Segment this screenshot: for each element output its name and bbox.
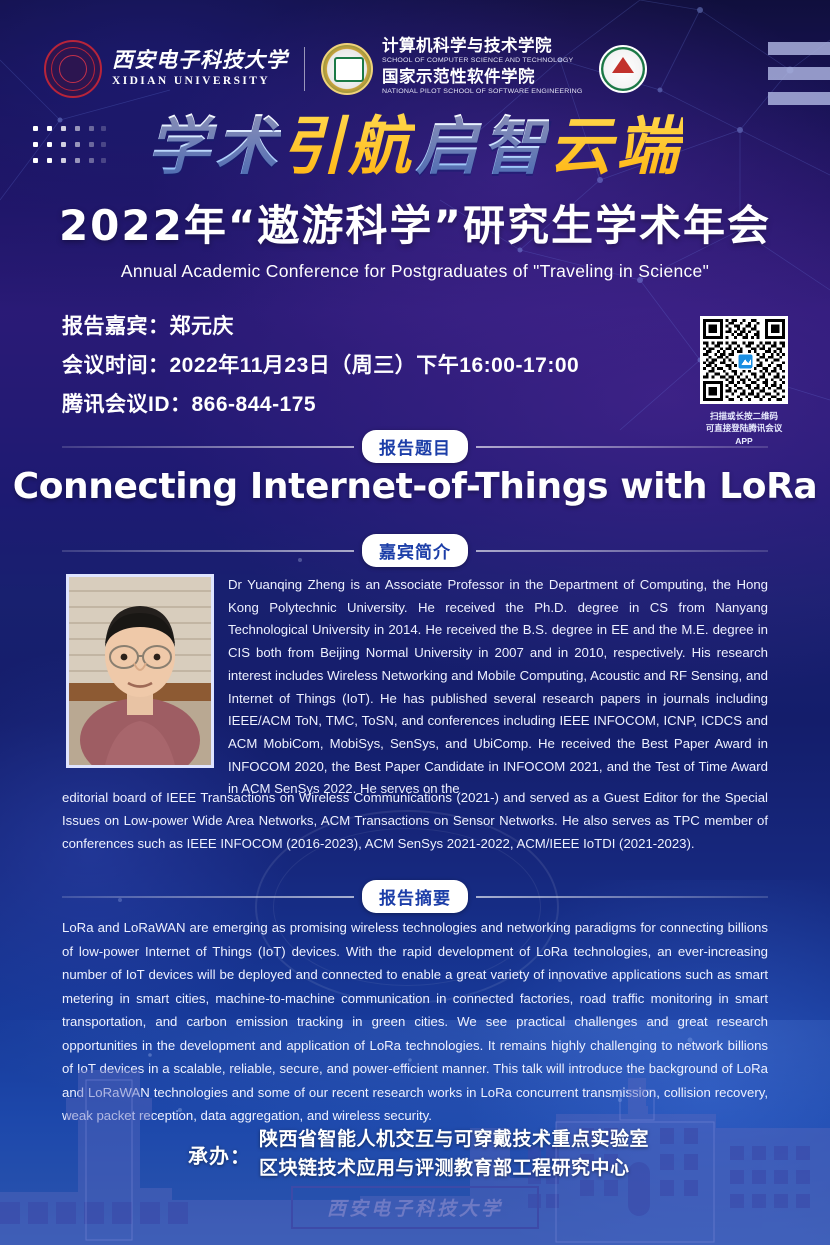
speaker-photo	[66, 574, 214, 768]
qr-caption-line1: 扫描或长按二维码	[700, 410, 788, 422]
meeting-info-block: 报告嘉宾：郑元庆 会议时间：2022年11月23日（周三）下午16:00-17:…	[62, 308, 579, 425]
talk-title: Connecting Internet-of-Things with LoRa	[0, 466, 830, 507]
school-emblem-icon	[321, 43, 373, 95]
section-header-abstract: 报告摘要	[62, 880, 768, 913]
organizer-label: 承办：	[188, 1140, 251, 1169]
meeting-id-line: 腾讯会议ID：866-844-175	[62, 386, 579, 425]
xidian-seal-icon	[44, 40, 102, 98]
speaker-bio-continued: editorial board of IEEE Transactions on …	[62, 774, 768, 868]
hero-art-1: 学术	[147, 110, 281, 183]
xidian-wordmark: 西安电子科技大学 XIDIAN UNIVERSITY	[112, 50, 288, 88]
pilot-school-shield-icon	[599, 45, 647, 93]
xidian-name-cn: 西安电子科技大学	[112, 50, 288, 71]
footer-university-plate: 西安电子科技大学	[291, 1186, 539, 1229]
divider-right	[476, 550, 768, 552]
corner-bars-decoration	[768, 42, 830, 117]
conference-poster: 西安电子科技大学 XIDIAN UNIVERSITY 计算机科学与技术学院 SC…	[0, 0, 830, 1245]
qr-code-block: 扫描或长按二维码 可直接登陆腾讯会议APP	[700, 316, 788, 447]
divider-left	[62, 896, 354, 898]
hero-art-3: 启智	[415, 110, 549, 183]
organizer-names: 陕西省智能人机交互与可穿戴技术重点实验室 区块链技术应用与评测教育部工程研究中心	[259, 1126, 649, 1183]
qr-code-image[interactable]	[700, 316, 788, 404]
section-header-talk-title: 报告题目	[62, 430, 768, 463]
xidian-name-en: XIDIAN UNIVERSITY	[112, 76, 288, 88]
divider-right	[476, 446, 768, 448]
school-name-cn-2: 国家示范性软件学院	[382, 69, 583, 86]
school-wordmark: 计算机科学与技术学院 SCHOOL OF COMPUTER SCIENCE AN…	[382, 38, 583, 99]
hero-art-4: 云端	[549, 110, 683, 183]
organizer-line-1: 陕西省智能人机交互与可穿戴技术重点实验室	[259, 1126, 649, 1155]
logo-row: 西安电子科技大学 XIDIAN UNIVERSITY 计算机科学与技术学院 SC…	[44, 38, 647, 99]
school-name-cn-1: 计算机科学与技术学院	[382, 38, 583, 55]
organizer-block: 承办： 陕西省智能人机交互与可穿戴技术重点实验室 区块链技术应用与评测教育部工程…	[188, 1126, 649, 1183]
divider-left	[62, 446, 354, 448]
organizer-line-2: 区块链技术应用与评测教育部工程研究中心	[259, 1155, 649, 1184]
section-badge-bio: 嘉宾简介	[362, 534, 468, 567]
bio-paragraph-1: Dr Yuanqing Zheng is an Associate Profes…	[228, 574, 768, 801]
school-name-en-1: SCHOOL OF COMPUTER SCIENCE AND TECHNOLOG…	[382, 57, 583, 64]
bio-paragraph-2: editorial board of IEEE Transactions on …	[62, 787, 768, 855]
section-badge-abstract: 报告摘要	[362, 880, 468, 913]
hero-art-2: 引航	[281, 110, 415, 183]
divider-right	[476, 896, 768, 898]
abstract-text: LoRa and LoRaWAN are emerging as promisi…	[62, 916, 768, 1128]
speaker-line: 报告嘉宾：郑元庆	[62, 308, 579, 347]
divider-left	[62, 550, 354, 552]
school-name-en-2: NATIONAL PILOT SCHOOL OF SOFTWARE ENGINE…	[382, 88, 583, 95]
section-badge-talk-title: 报告题目	[362, 430, 468, 463]
section-header-bio: 嘉宾简介	[62, 534, 768, 567]
hero-subtitle-cn: 2022年“遨游科学”研究生学术年会	[0, 192, 830, 253]
hero-subtitle-en: Annual Academic Conference for Postgradu…	[0, 261, 830, 282]
logo-divider	[304, 47, 305, 91]
hero-title-block: 学术引航启智云端 2022年“遨游科学”研究生学术年会 Annual Acade…	[0, 115, 830, 282]
hero-artistic-title: 学术引航启智云端	[0, 115, 830, 178]
time-line: 会议时间：2022年11月23日（周三）下午16:00-17:00	[62, 347, 579, 386]
speaker-bio-wrapped: Dr Yuanqing Zheng is an Associate Profes…	[228, 574, 768, 801]
footer-university-name: 西安电子科技大学	[327, 1199, 503, 1220]
